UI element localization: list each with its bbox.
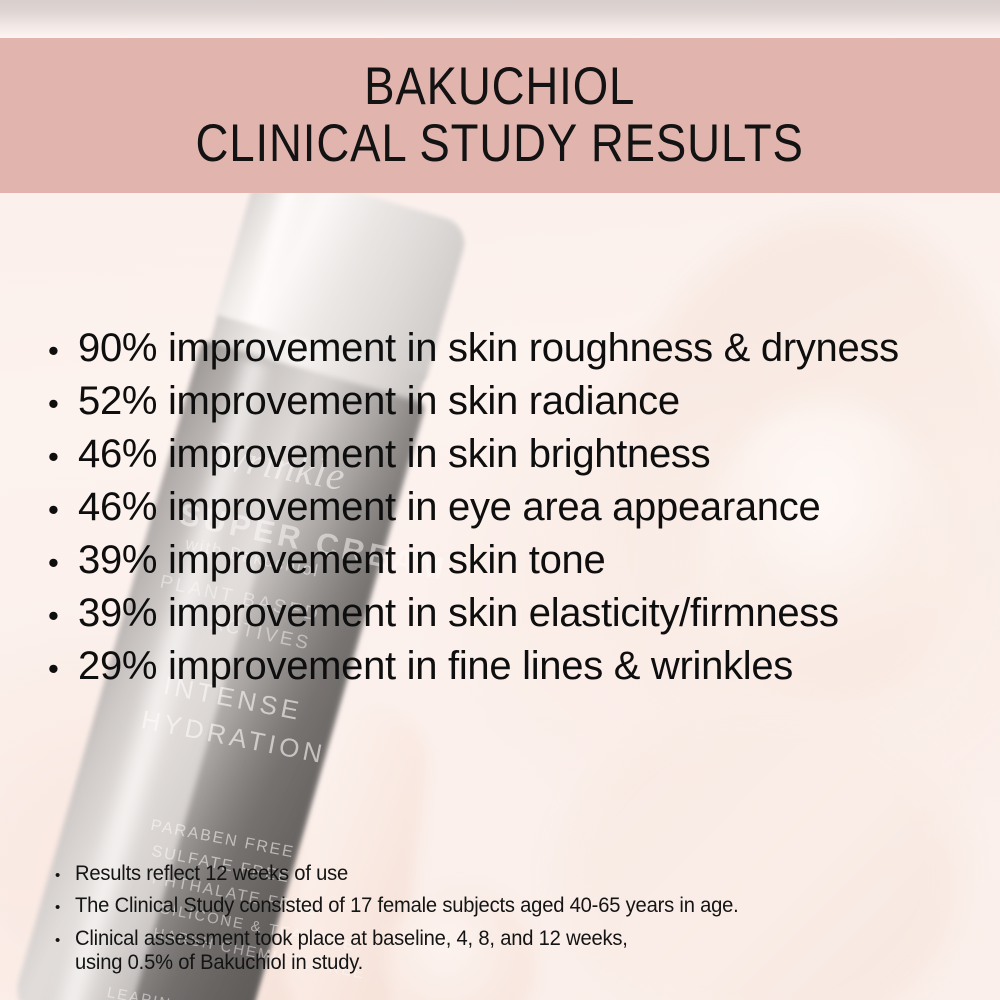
bullet-icon: •	[48, 547, 78, 578]
footnote-item: • Results reflect 12 weeks of use	[55, 862, 955, 886]
footnote-item-label: Clinical assessment took place at baseli…	[75, 927, 628, 976]
footnote-item-label: The Clinical Study consisted of 17 femal…	[75, 894, 739, 918]
result-item: • 39% improvement in skin tone	[48, 540, 988, 593]
bullet-icon: •	[48, 388, 78, 419]
banner-title-line-1: BAKUCHIOL	[364, 59, 635, 115]
bullet-icon: •	[48, 494, 78, 525]
result-item-label: 90% improvement in skin roughness & dryn…	[78, 328, 899, 368]
results-list: • 90% improvement in skin roughness & dr…	[48, 328, 988, 699]
result-item-label: 46% improvement in eye area appearance	[78, 487, 820, 527]
result-item: • 29% improvement in fine lines & wrinkl…	[48, 646, 988, 699]
result-item-label: 29% improvement in fine lines & wrinkles	[78, 646, 793, 686]
footnotes-list: • Results reflect 12 weeks of use • The …	[55, 862, 955, 983]
poster-canvas: Wrinkle SUPER CREAM with Bakuchiol PLANT…	[0, 0, 1000, 1000]
result-item-label: 52% improvement in skin radiance	[78, 381, 680, 421]
banner-title-line-2: CLINICAL STUDY RESULTS	[196, 116, 804, 172]
result-item: • 46% improvement in skin brightness	[48, 434, 988, 487]
bullet-icon: •	[48, 653, 78, 684]
result-item: • 39% improvement in skin elasticity/fir…	[48, 593, 988, 646]
bullet-icon: •	[55, 868, 75, 883]
result-item-label: 39% improvement in skin tone	[78, 540, 605, 580]
result-item-label: 39% improvement in skin elasticity/firmn…	[78, 593, 839, 633]
result-item: • 46% improvement in eye area appearance	[48, 487, 988, 540]
footnote-item-label: Results reflect 12 weeks of use	[75, 862, 348, 886]
footnote-item: • The Clinical Study consisted of 17 fem…	[55, 894, 955, 918]
bullet-icon: •	[48, 335, 78, 366]
result-item: • 90% improvement in skin roughness & dr…	[48, 328, 988, 381]
result-item: • 52% improvement in skin radiance	[48, 381, 988, 434]
bullet-icon: •	[48, 600, 78, 631]
bullet-icon: •	[48, 441, 78, 472]
title-banner: BAKUCHIOL CLINICAL STUDY RESULTS	[0, 38, 1000, 193]
result-item-label: 46% improvement in skin brightness	[78, 434, 710, 474]
photo-top-strip	[0, 0, 1000, 40]
bullet-icon: •	[55, 933, 75, 948]
bullet-icon: •	[55, 900, 75, 915]
footnote-item: • Clinical assessment took place at base…	[55, 927, 955, 976]
